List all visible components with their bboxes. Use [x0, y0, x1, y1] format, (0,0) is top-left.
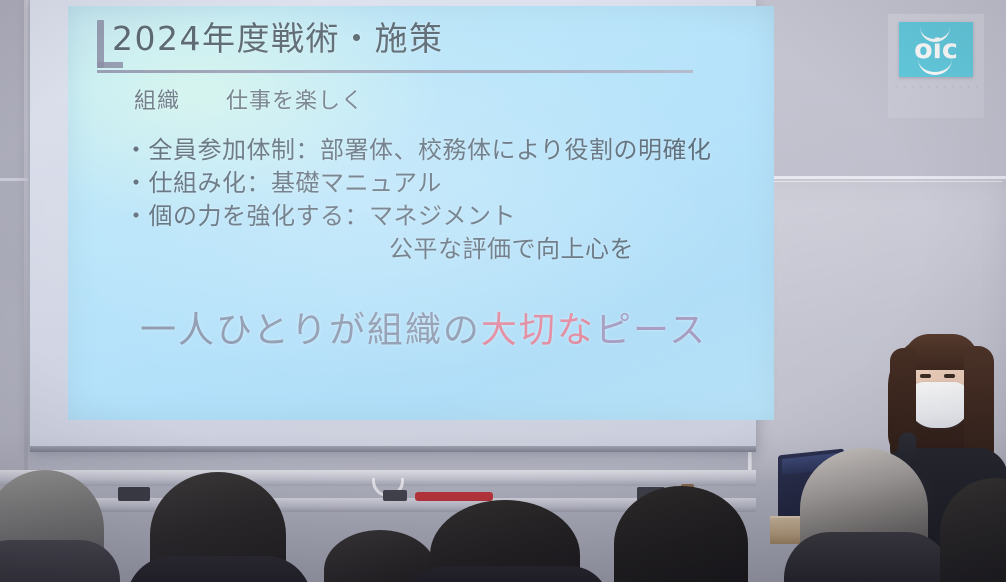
scene-vignette [0, 0, 1006, 582]
video-still-stage: oic ・・・・・・・・・・・・ 2024年度戦術・施策 組織 仕事を楽しく ・… [0, 0, 1006, 582]
